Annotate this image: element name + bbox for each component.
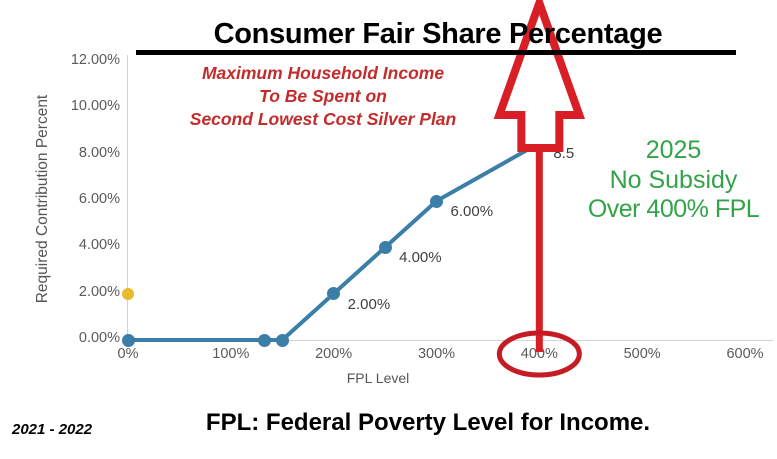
green-note-line-1: 2025 <box>570 136 777 166</box>
title-underline <box>136 50 736 55</box>
red-note-line-3: Second Lowest Cost Silver Plan <box>128 108 518 131</box>
green-note-line-3: Over 400% FPL <box>570 195 777 225</box>
red-up-arrow <box>499 3 579 352</box>
red-note-line-1: Maximum Household Income <box>128 62 518 85</box>
green-note-line-2: No Subsidy <box>570 166 777 196</box>
red-note-line-2: To Be Spent on <box>128 85 518 108</box>
page-title: Consumer Fair Share Percentage <box>128 18 748 51</box>
red-annotation-note: Maximum Household Income To Be Spent on … <box>128 62 518 130</box>
green-annotation-note: 2025 No Subsidy Over 400% FPL <box>570 136 777 225</box>
chart-canvas: Consumer Fair Share Percentage Required … <box>0 0 777 459</box>
